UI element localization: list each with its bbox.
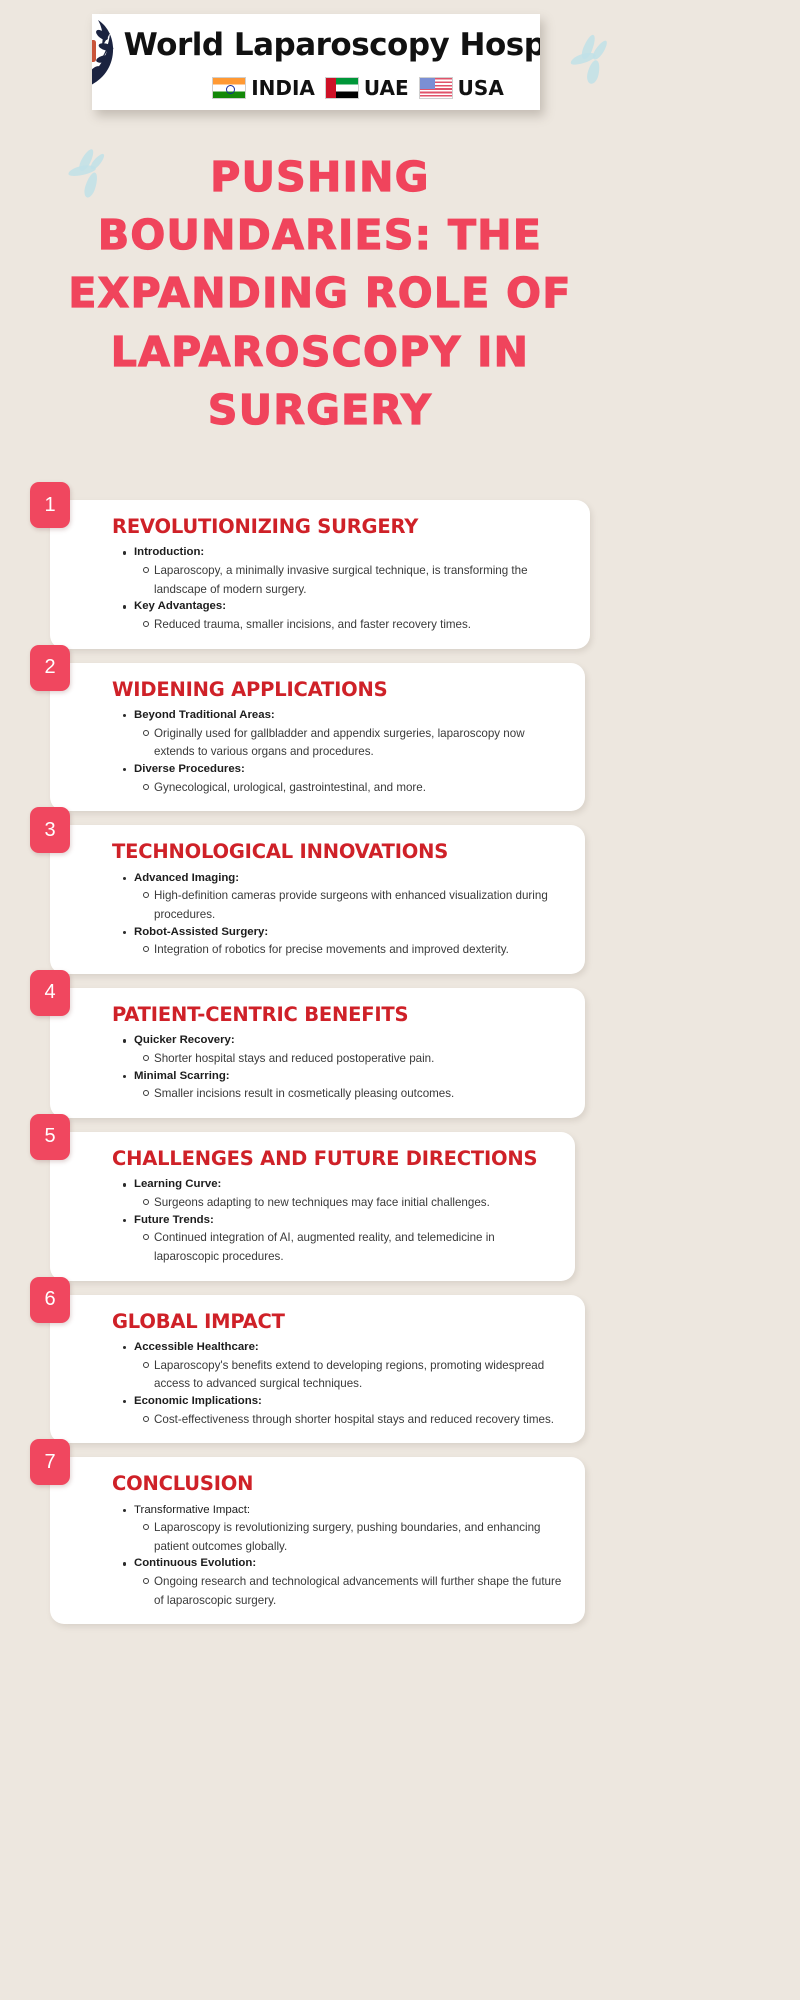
point-item: Transformative Impact:Laparoscopy is rev… [134,1503,567,1556]
detail-item: Ongoing research and technological advan… [154,1572,567,1609]
detail-text: Reduced trauma, smaller incisions, and f… [154,618,471,631]
section-card-5: 5Challenges and Future DirectionsLearnin… [0,1132,800,1281]
logo-title-row: World Laparoscopy Hospital [92,19,540,71]
point-item: Key Advantages:Reduced trauma, smaller i… [134,599,572,633]
section-card-7: 7ConclusionTransformative Impact:Laparos… [0,1457,800,1624]
card-body: 2Widening ApplicationsBeyond Traditional… [50,663,585,812]
section-points: Learning Curve:Surgeons adapting to new … [112,1177,557,1265]
point-details: Integration of robotics for precise move… [134,940,567,959]
detail-text: Gynecological, urological, gastrointesti… [154,781,426,794]
country-india: INDIA [212,77,315,99]
point-details: Originally used for gallbladder and appe… [134,724,567,761]
section-number-badge: 2 [30,645,70,691]
point-label: Accessible Healthcare: [134,1340,567,1356]
section-card-3: 3Technological InnovationsAdvanced Imagi… [0,825,800,974]
card-body: 1Revolutionizing SurgeryIntroduction:Lap… [50,500,590,649]
point-details: Cost-effectiveness through shorter hospi… [134,1410,567,1429]
detail-item: Surgeons adapting to new techniques may … [154,1193,557,1212]
section-heading: Patient-Centric Benefits [112,1004,567,1026]
point-details: High-definition cameras provide surgeons… [134,886,567,923]
detail-text: Continued integration of AI, augmented r… [154,1231,495,1263]
section-points: Transformative Impact:Laparoscopy is rev… [112,1503,567,1610]
detail-item: Integration of robotics for precise move… [154,940,567,959]
point-item: Quicker Recovery:Shorter hospital stays … [134,1033,567,1067]
detail-item: Originally used for gallbladder and appe… [154,724,567,761]
point-details: Laparoscopy is revolutionizing surgery, … [134,1518,567,1555]
section-points: Introduction:Laparoscopy, a minimally in… [112,545,572,633]
section-card-6: 6Global ImpactAccessible Healthcare:Lapa… [0,1295,800,1444]
decorative-leaf-splash-top-right [568,34,628,90]
country-usa: USA [419,77,504,99]
detail-text: Shorter hospital stays and reduced posto… [154,1052,434,1065]
point-item: Accessible Healthcare:Laparoscopy's bene… [134,1340,567,1393]
point-label: Key Advantages: [134,599,572,615]
country-label-uae: UAE [364,78,409,98]
point-details: Shorter hospital stays and reduced posto… [134,1049,567,1068]
card-body: 5Challenges and Future DirectionsLearnin… [50,1132,575,1281]
section-number-badge: 1 [30,482,70,528]
point-details: Laparoscopy, a minimally invasive surgic… [134,561,572,598]
section-points: Quicker Recovery:Shorter hospital stays … [112,1033,567,1103]
point-item: Continuous Evolution:Ongoing research an… [134,1556,567,1609]
point-details: Reduced trauma, smaller incisions, and f… [134,615,572,634]
section-number-badge: 3 [30,807,70,853]
point-details: Gynecological, urological, gastrointesti… [134,778,567,797]
card-body: 7ConclusionTransformative Impact:Laparos… [50,1457,585,1624]
point-label: Continuous Evolution: [134,1556,567,1572]
point-details: Laparoscopy's benefits extend to develop… [134,1356,567,1393]
point-label: Beyond Traditional Areas: [134,708,567,724]
detail-item: Laparoscopy is revolutionizing surgery, … [154,1518,567,1555]
section-points: Advanced Imaging:High-definition cameras… [112,871,567,959]
detail-text: Laparoscopy's benefits extend to develop… [154,1359,544,1391]
section-heading: Widening Applications [112,679,567,701]
point-label: Diverse Procedures: [134,762,567,778]
detail-item: Smaller incisions result in cosmetically… [154,1084,567,1103]
country-label-india: INDIA [251,78,315,98]
section-card-4: 4Patient-Centric BenefitsQuicker Recover… [0,988,800,1118]
detail-text: Laparoscopy, a minimally invasive surgic… [154,564,528,596]
detail-text: Smaller incisions result in cosmetically… [154,1087,454,1100]
point-item: Future Trends:Continued integration of A… [134,1213,557,1266]
detail-item: Gynecological, urological, gastrointesti… [154,778,567,797]
detail-item: High-definition cameras provide surgeons… [154,886,567,923]
point-item: Economic Implications:Cost-effectiveness… [134,1394,567,1428]
card-body: 6Global ImpactAccessible Healthcare:Lapa… [50,1295,585,1444]
detail-text: Originally used for gallbladder and appe… [154,727,525,759]
country-flags-row: INDIA UAE USA [92,71,540,105]
point-item: Advanced Imaging:High-definition cameras… [134,871,567,924]
point-label: Advanced Imaging: [134,871,567,887]
section-points: Beyond Traditional Areas:Originally used… [112,708,567,796]
section-card-1: 1Revolutionizing SurgeryIntroduction:Lap… [0,500,800,649]
point-label: Learning Curve: [134,1177,557,1193]
detail-text: Ongoing research and technological advan… [154,1575,561,1607]
point-item: Minimal Scarring:Smaller incisions resul… [134,1069,567,1103]
point-item: Diverse Procedures:Gynecological, urolog… [134,762,567,796]
detail-text: Cost-effectiveness through shorter hospi… [154,1413,554,1426]
detail-text: High-definition cameras provide surgeons… [154,889,548,921]
detail-text: Laparoscopy is revolutionizing surgery, … [154,1521,541,1553]
detail-item: Reduced trauma, smaller incisions, and f… [154,615,572,634]
detail-item: Continued integration of AI, augmented r… [154,1228,557,1265]
section-number-badge: 7 [30,1439,70,1485]
card-body: 3Technological InnovationsAdvanced Imagi… [50,825,585,974]
detail-item: Cost-effectiveness through shorter hospi… [154,1410,567,1429]
section-number-badge: 6 [30,1277,70,1323]
point-label: Future Trends: [134,1213,557,1229]
point-label: Introduction: [134,545,572,561]
point-label: Economic Implications: [134,1394,567,1410]
section-heading: Revolutionizing Surgery [112,516,572,538]
section-heading: Technological Innovations [112,841,567,863]
section-heading: Challenges and Future Directions [112,1148,557,1170]
section-number-badge: 4 [30,970,70,1016]
section-heading: Conclusion [112,1473,567,1495]
section-number-badge: 5 [30,1114,70,1160]
sections-list: 1Revolutionizing SurgeryIntroduction:Lap… [0,500,800,1638]
point-item: Introduction:Laparoscopy, a minimally in… [134,545,572,598]
flag-usa-icon [419,77,453,99]
card-body: 4Patient-Centric BenefitsQuicker Recover… [50,988,585,1118]
point-label: Transformative Impact: [134,1503,567,1519]
section-points: Accessible Healthcare:Laparoscopy's bene… [112,1340,567,1428]
logo-title: World Laparoscopy Hospital [124,30,540,61]
hospital-logo-banner: World Laparoscopy Hospital INDIA UAE USA [92,14,540,110]
page-title: Pushing Boundaries: The Expanding Role o… [60,148,580,439]
point-label: Quicker Recovery: [134,1033,567,1049]
point-details: Smaller incisions result in cosmetically… [134,1084,567,1103]
point-details: Ongoing research and technological advan… [134,1572,567,1609]
section-heading: Global Impact [112,1311,567,1333]
point-details: Continued integration of AI, augmented r… [134,1228,557,1265]
point-label: Robot-Assisted Surgery: [134,925,567,941]
flag-uae-icon [325,77,359,99]
laurel-wreath-icon [92,14,124,95]
point-details: Surgeons adapting to new techniques may … [134,1193,557,1212]
infographic-page: World Laparoscopy Hospital INDIA UAE USA [0,0,800,2000]
country-uae: UAE [325,77,409,99]
detail-text: Integration of robotics for precise move… [154,943,509,956]
detail-item: Laparoscopy's benefits extend to develop… [154,1356,567,1393]
detail-text: Surgeons adapting to new techniques may … [154,1196,490,1209]
detail-item: Shorter hospital stays and reduced posto… [154,1049,567,1068]
point-label: Minimal Scarring: [134,1069,567,1085]
detail-item: Laparoscopy, a minimally invasive surgic… [154,561,572,598]
flag-india-icon [212,77,246,99]
point-item: Learning Curve:Surgeons adapting to new … [134,1177,557,1211]
country-label-usa: USA [458,78,504,98]
point-item: Robot-Assisted Surgery:Integration of ro… [134,925,567,959]
point-item: Beyond Traditional Areas:Originally used… [134,708,567,761]
section-card-2: 2Widening ApplicationsBeyond Traditional… [0,663,800,812]
